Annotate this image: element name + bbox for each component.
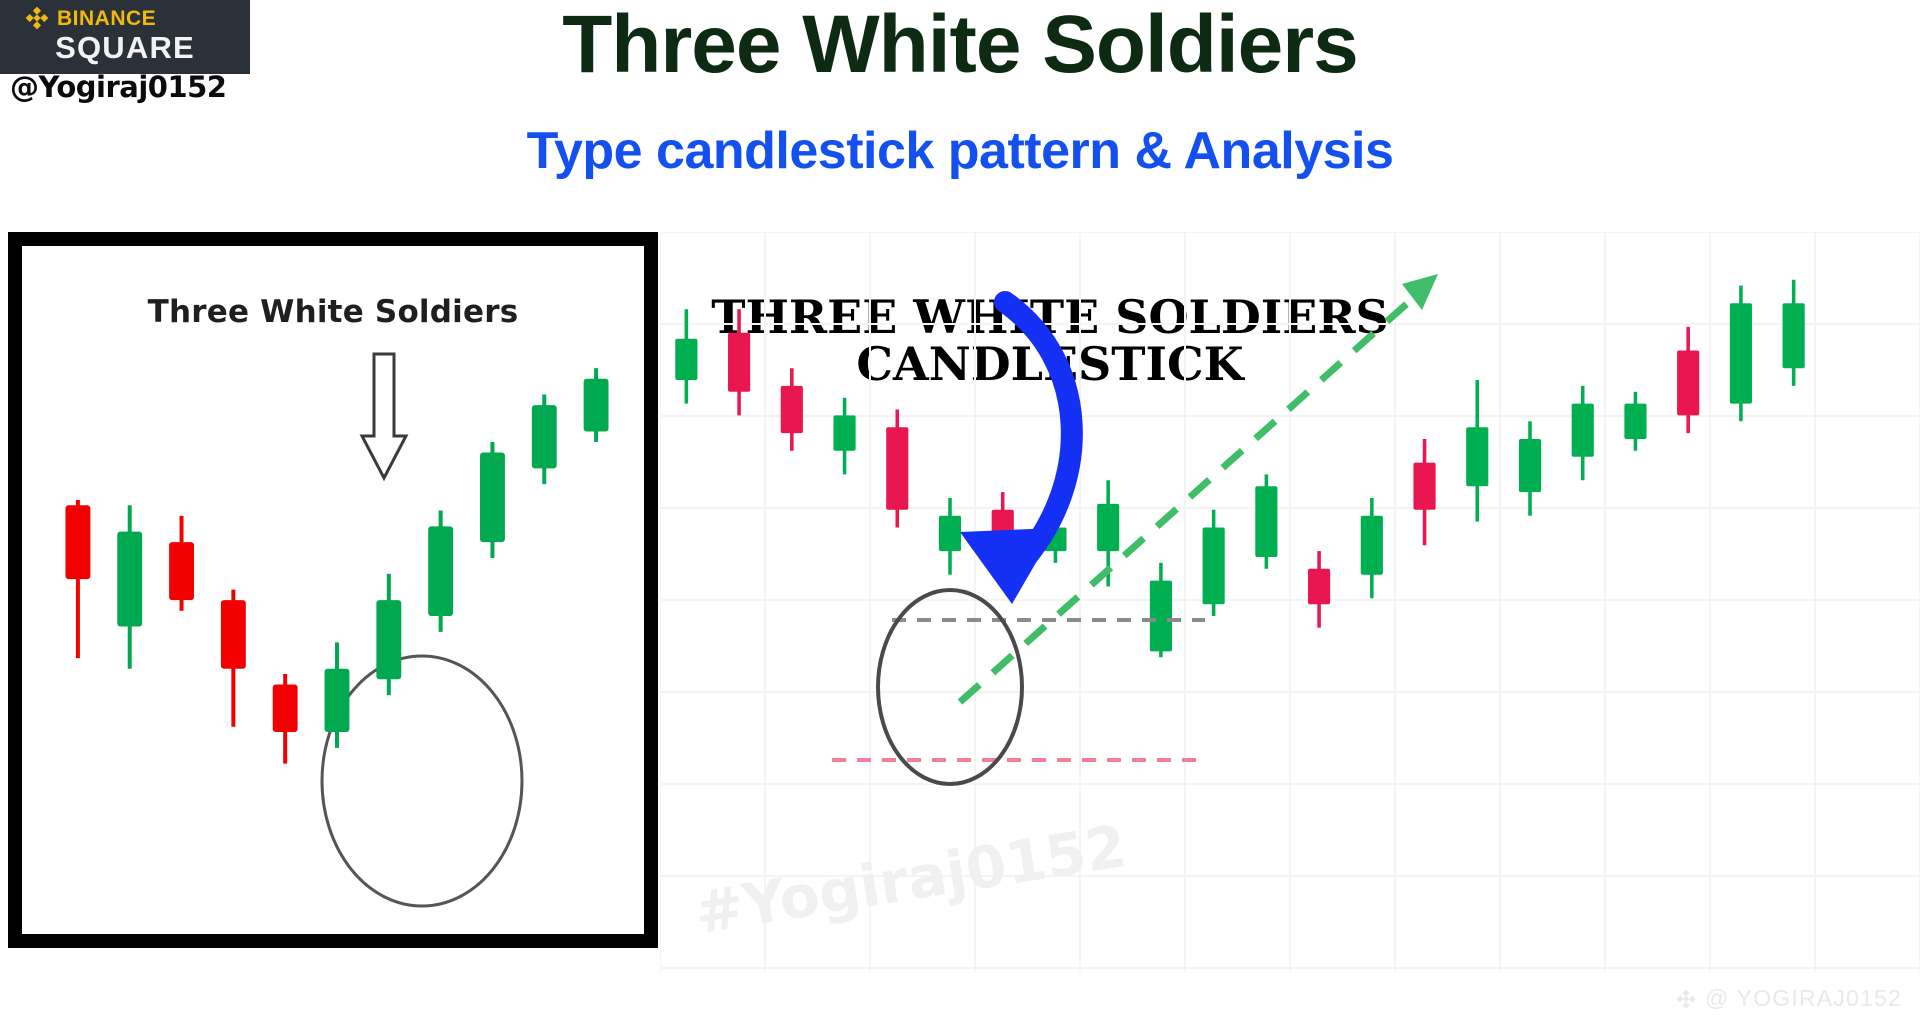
right-candlestick-chart <box>660 232 1920 972</box>
candle-body <box>428 526 453 616</box>
candle-body <box>532 405 557 468</box>
candle-body <box>273 685 298 732</box>
candle-body <box>1783 303 1805 368</box>
candle-body <box>1150 581 1172 652</box>
binance-diamond-icon <box>1675 988 1697 1010</box>
candle-body <box>1466 427 1488 486</box>
left-candlestick-chart <box>22 246 642 936</box>
candle-body <box>1097 504 1119 551</box>
footer-credit-text: @ YOGIRAJ0152 <box>1705 985 1902 1012</box>
candle-body <box>376 600 401 679</box>
author-handle: @Yogiraj0152 <box>10 70 226 104</box>
candle-body <box>939 516 961 551</box>
candle-body <box>833 415 855 450</box>
candle-body <box>781 386 803 433</box>
candle-body <box>1308 569 1330 604</box>
binance-wordmark: BINANCE <box>57 8 156 29</box>
candle-body <box>886 427 908 510</box>
binance-brand-row: BINANCE <box>0 0 250 31</box>
page-title: Three White Soldiers <box>0 2 1920 88</box>
candle-body <box>169 542 194 600</box>
candle-body <box>1572 404 1594 457</box>
footer-credit: @ YOGIRAJ0152 <box>1675 985 1902 1012</box>
right-chart-region: THREE WHITE SOLDIERS CANDLESTICK Ent <box>660 232 1920 972</box>
binance-diamond-icon <box>24 5 50 31</box>
candle-body <box>1413 463 1435 510</box>
pattern-highlight-ellipse <box>322 656 522 906</box>
candle-body <box>65 505 90 579</box>
candle-body <box>1203 528 1225 605</box>
candle-body <box>584 379 609 432</box>
candle-body <box>1624 404 1646 439</box>
down-arrow-outline-icon <box>362 354 406 478</box>
candle-body <box>1361 516 1383 575</box>
candle-body <box>480 453 505 543</box>
left-illustration-panel: Three White Soldiers <box>8 232 658 948</box>
square-wordmark: SQUARE <box>0 32 250 63</box>
candle-body <box>728 333 750 392</box>
candle-body <box>221 600 246 669</box>
candle-body <box>1255 486 1277 557</box>
candle-body <box>1519 439 1541 492</box>
candle-body <box>1677 351 1699 416</box>
candle-body <box>1730 303 1752 403</box>
candle-body <box>675 339 697 380</box>
page-subtitle: Type candlestick pattern & Analysis <box>0 124 1920 179</box>
binance-square-badge: BINANCE SQUARE <box>0 0 250 74</box>
candle-body <box>117 532 142 627</box>
candle-body <box>325 669 350 732</box>
